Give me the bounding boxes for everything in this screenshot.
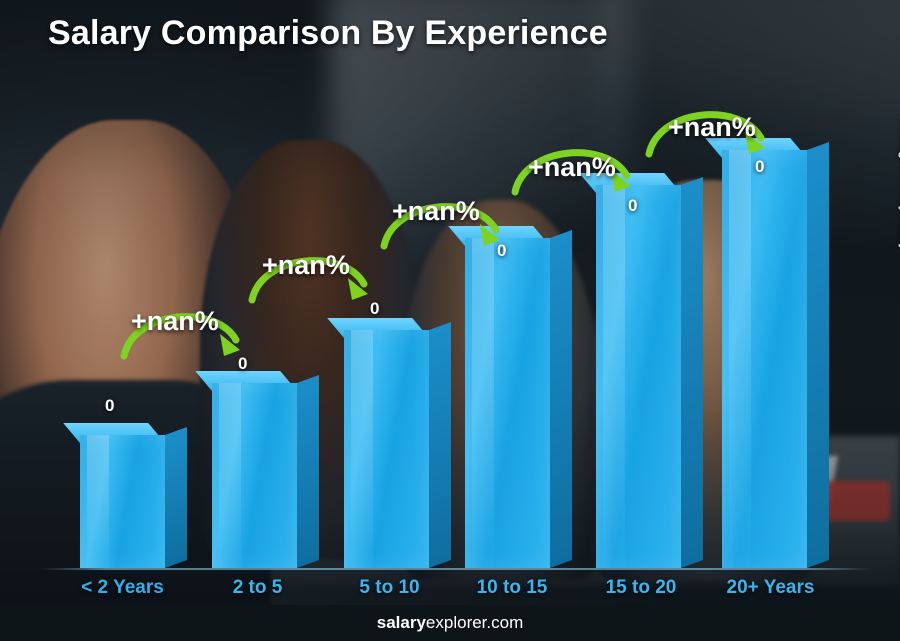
growth-label-4: +nan% <box>668 112 756 143</box>
baseline <box>40 568 870 570</box>
brand-name-rest: explorer.com <box>426 613 523 633</box>
category-label-1: 2 to 5 <box>185 577 330 599</box>
bar-value-5: 0 <box>755 157 764 177</box>
bar-5 <box>722 150 807 568</box>
chart-page: Salary Comparison By Experience Average … <box>0 0 900 641</box>
bar-3 <box>465 238 550 568</box>
growth-label-2: +nan% <box>392 196 480 227</box>
bar-side-2 <box>429 322 451 568</box>
bar-side-1 <box>297 375 319 568</box>
bar-side-3 <box>550 230 572 568</box>
bar-front-3 <box>465 238 550 568</box>
bar-front-5 <box>722 150 807 568</box>
bar-0 <box>80 435 165 568</box>
category-label-0: < 2 Years <box>50 577 195 599</box>
bar-side-4 <box>681 177 703 568</box>
bar-value-4: 0 <box>628 196 637 216</box>
category-label-5: 20+ Years <box>693 577 848 599</box>
growth-label-1: +nan% <box>262 250 350 281</box>
bar-1 <box>212 383 297 568</box>
growth-label-0: +nan% <box>131 306 219 337</box>
brand-name-bold: salary <box>377 613 426 633</box>
bar-value-0: 0 <box>105 396 114 416</box>
category-label-3: 10 to 15 <box>437 577 587 599</box>
bar-front-1 <box>212 383 297 568</box>
growth-label-3: +nan% <box>528 152 616 183</box>
bar-front-4 <box>596 185 681 568</box>
bar-chart: 0 < 2 Years 0 2 to 5 0 5 to 10 0 10 to 1… <box>0 0 900 641</box>
bar-2 <box>344 330 429 568</box>
footer-bar: salaryexplorer.com <box>0 605 900 641</box>
bar-side-0 <box>165 427 187 568</box>
bar-front-0 <box>80 435 165 568</box>
bar-4 <box>596 185 681 568</box>
bar-side-5 <box>807 142 829 568</box>
bar-front-2 <box>344 330 429 568</box>
